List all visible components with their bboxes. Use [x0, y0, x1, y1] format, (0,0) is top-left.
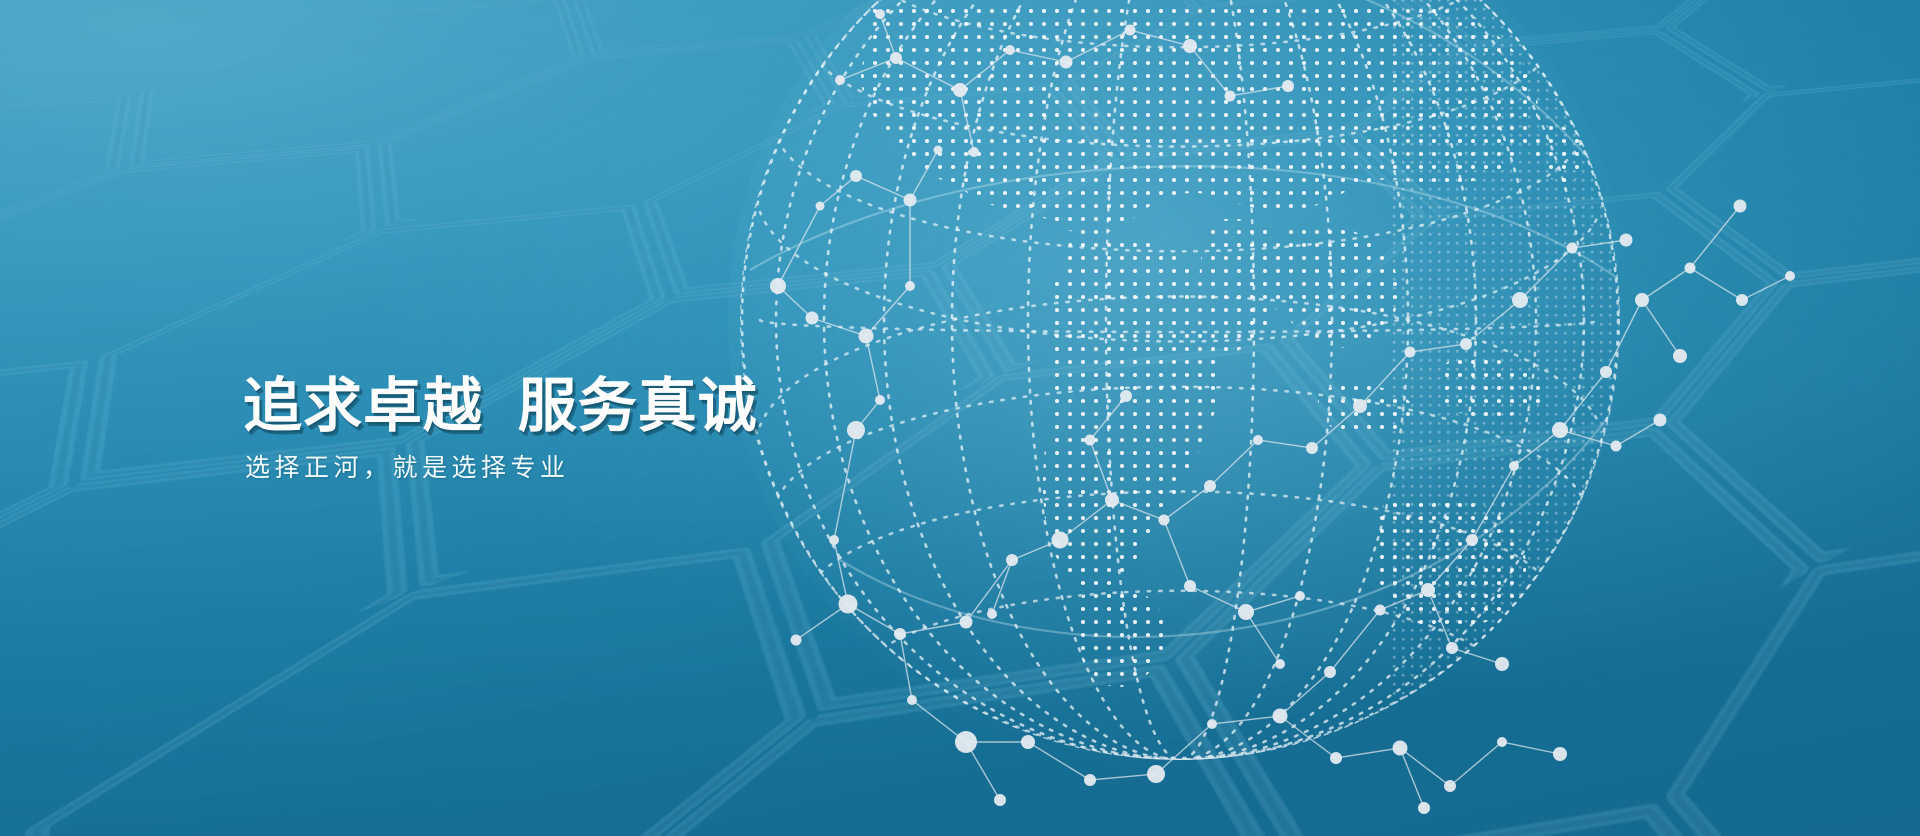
hero-copy: 追求卓越 服务真诚 选择正河，就是选择专业	[243, 375, 1003, 483]
page-title: 追求卓越 服务真诚	[243, 375, 1003, 439]
page-subtitle: 选择正河，就是选择专业	[245, 453, 1003, 483]
hero-banner: 追求卓越 服务真诚 选择正河，就是选择专业	[0, 0, 1920, 836]
